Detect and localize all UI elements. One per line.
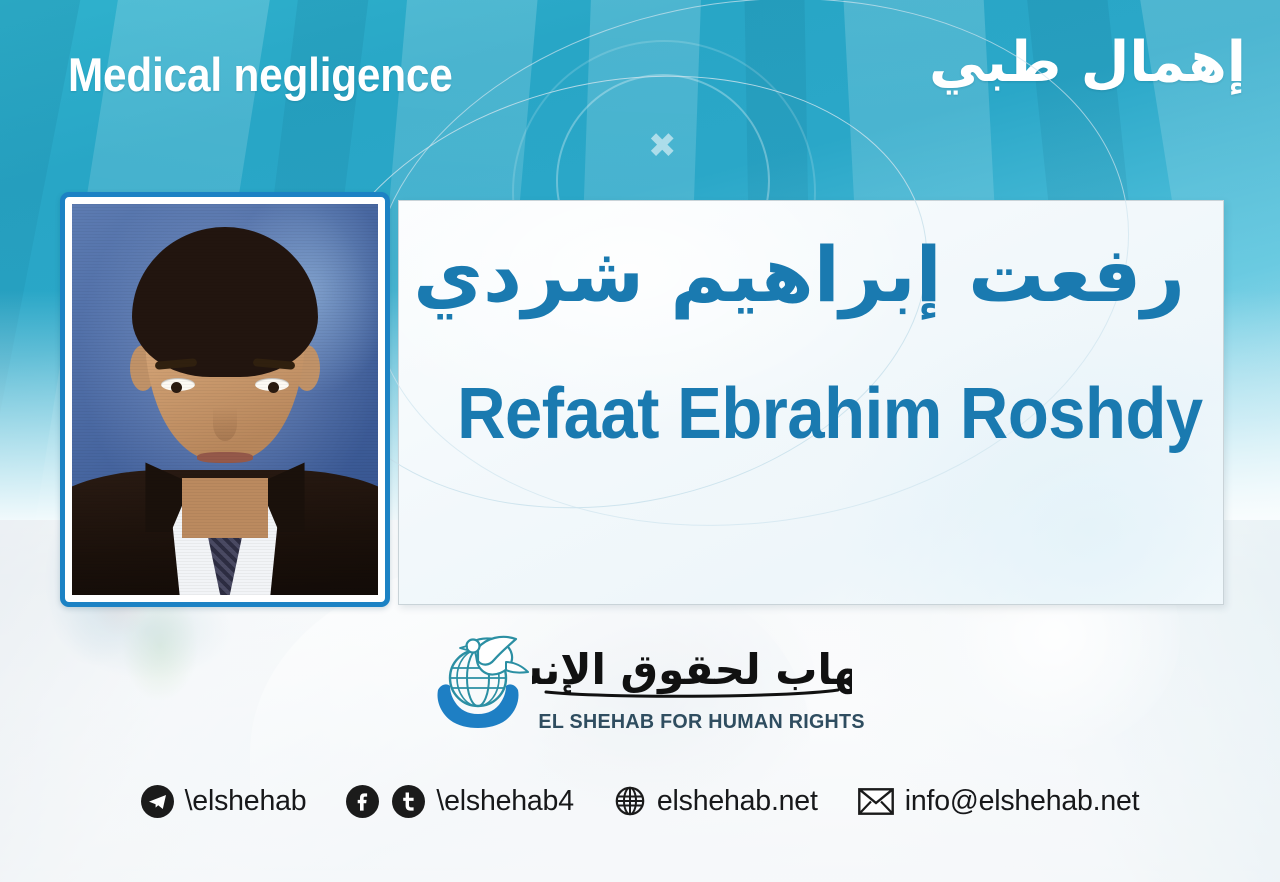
contact-email[interactable]: info@elshehab.net bbox=[858, 785, 1140, 818]
contact-website[interactable]: elshehab.net bbox=[614, 785, 818, 818]
contact-twitter[interactable]: \elshehab4 bbox=[392, 785, 573, 818]
telegram-icon bbox=[141, 785, 174, 818]
email-address: info@elshehab.net bbox=[905, 785, 1140, 818]
contact-facebook[interactable] bbox=[346, 785, 379, 818]
globe-icon bbox=[614, 785, 646, 817]
facebook-icon bbox=[346, 785, 379, 818]
organization-name-arabic-calligraphy: الشهاب لحقوق الإنسان bbox=[532, 626, 852, 710]
contact-telegram[interactable]: \elshehab bbox=[141, 785, 307, 818]
twitter-handle: \elshehab4 bbox=[436, 785, 573, 818]
portrait-frame bbox=[60, 192, 390, 607]
envelope-icon bbox=[858, 788, 894, 815]
poster-canvas: ✖ Medical negligence إهمال طبي رفعت إبرا… bbox=[0, 0, 1280, 882]
svg-text:الشهاب لحقوق الإنسان: الشهاب لحقوق الإنسان bbox=[532, 645, 852, 695]
subject-name-english: Refaat Ebrahim Roshdy bbox=[457, 373, 1203, 455]
page-title-english: Medical negligence bbox=[68, 47, 453, 102]
organization-logo: الشهاب لحقوق الإنسان EL SHEHAB FOR HUMAN… bbox=[432, 628, 852, 746]
contact-strip: \elshehab \elshehab4 bbox=[0, 772, 1280, 830]
website-url: elshehab.net bbox=[657, 785, 818, 818]
portrait-photo bbox=[72, 204, 378, 595]
dove-globe-hands-icon bbox=[432, 628, 536, 732]
portrait-scanline-texture bbox=[72, 204, 378, 595]
name-panel: رفعت إبراهيم شردي Refaat Ebrahim Roshdy bbox=[398, 200, 1224, 605]
subject-name-arabic: رفعت إبراهيم شردي bbox=[413, 231, 1185, 318]
twitter-icon bbox=[392, 785, 425, 818]
organization-name-english: EL SHEHAB FOR HUMAN RIGHTS bbox=[538, 710, 845, 734]
telegram-handle: \elshehab bbox=[185, 785, 307, 818]
